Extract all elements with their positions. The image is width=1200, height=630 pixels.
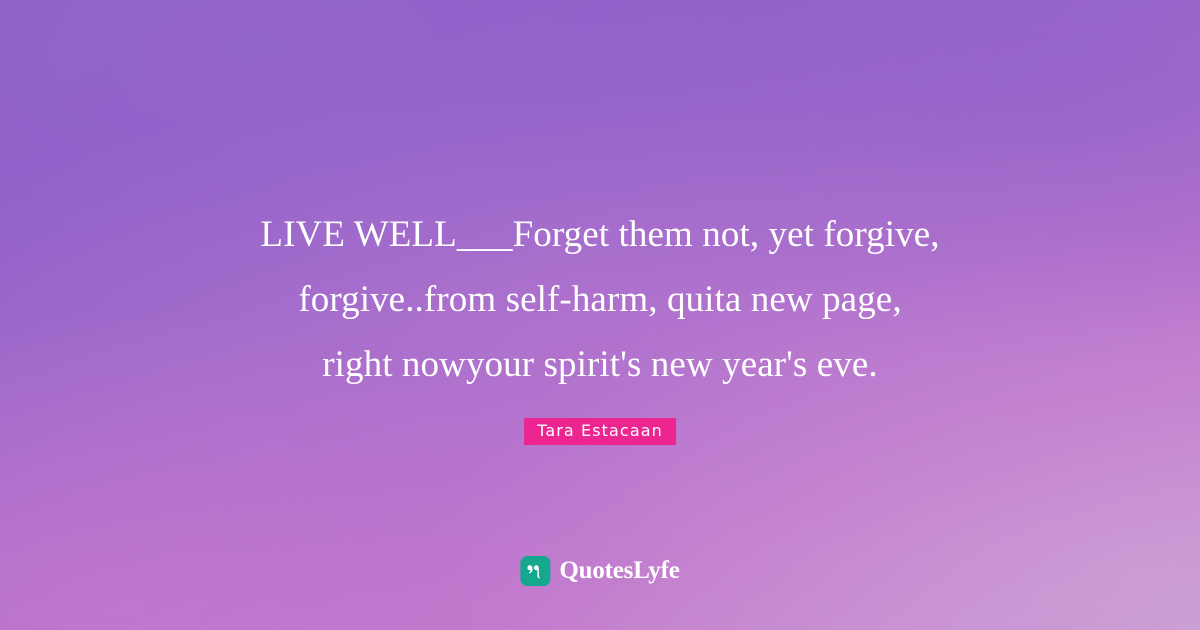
card-content: LIVE WELL___Forget them not, yet forgive… bbox=[0, 0, 1200, 630]
quote-image-card: LIVE WELL___Forget them not, yet forgive… bbox=[0, 0, 1200, 630]
quote-text: LIVE WELL___Forget them not, yet forgive… bbox=[100, 202, 1100, 397]
quote-line-1: LIVE WELL___Forget them not, yet forgive… bbox=[100, 202, 1100, 267]
quote-mark-icon bbox=[520, 556, 550, 586]
brand-logo: QuotesLyfe bbox=[520, 556, 679, 586]
brand-name: QuotesLyfe bbox=[559, 556, 679, 586]
quote-line-3: right nowyour spirit's new year's eve. bbox=[100, 332, 1100, 397]
author-badge: Tara Estacaan bbox=[524, 418, 676, 445]
quote-line-2: forgive..from self-harm, quita new page, bbox=[100, 267, 1100, 332]
